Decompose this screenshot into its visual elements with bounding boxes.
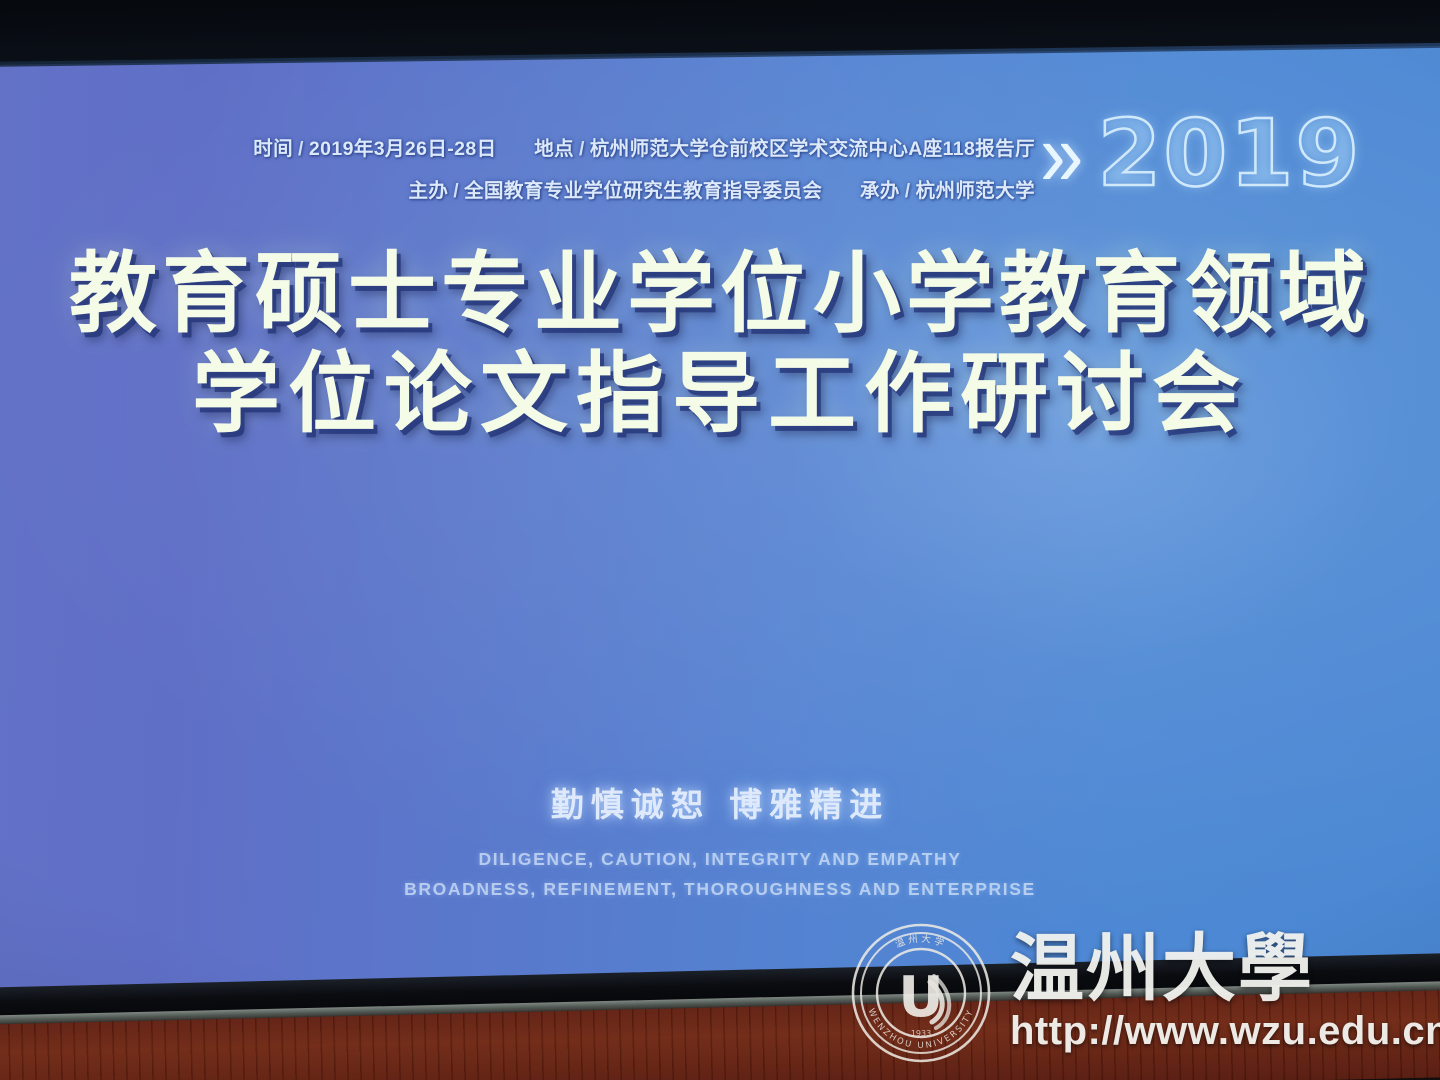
time-value: 2019年3月26日-28日 [309,140,497,160]
double-chevron-icon: » [1040,109,1083,199]
title-line-1: 教育硕士专业学位小学教育领域 [0,244,1440,344]
organizer-value: 杭州师范大学 [916,182,1035,202]
motto-block: 勤慎诚恕 博雅精进 DILIGENCE, CAUTION, INTEGRITY … [0,778,1440,904]
venue-value: 杭州师范大学仓前校区学术交流中心A座118报告厅 [590,140,1035,160]
slide-title: 教育硕士专业学位小学教育领域 学位论文指导工作研讨会 [0,244,1440,445]
motto-english-line-1: DILIGENCE, CAUTION, INTEGRITY AND EMPATH… [0,844,1440,874]
university-seal-icon: 温州大学 WENZHOU UNIVERSITY U 1933 [846,918,996,1068]
time-label: 时间 [253,140,293,160]
meta-separator: / [293,138,309,160]
meta-separator: / [574,138,590,160]
venue-label: 地点 [534,140,574,160]
svg-text:1933: 1933 [911,1029,931,1038]
university-url: http://www.wzu.edu.cn [1010,1010,1440,1052]
meta-line-host-organizer: 主办/全国教育专业学位研究生教育指导委员会 承办/杭州师范大学 [0,182,1035,202]
projected-slide-photo: 时间/2019年3月26日-28日 地点/杭州师范大学仓前校区学术交流中心A座1… [0,0,1440,1080]
host-label: 主办 [408,182,448,202]
year-outline-text: 2019 [1097,108,1361,200]
meta-line-time-venue: 时间/2019年3月26日-28日 地点/杭州师范大学仓前校区学术交流中心A座1… [0,140,1035,160]
title-line-2: 学位论文指导工作研讨会 [0,344,1440,444]
meta-separator: / [900,180,916,202]
watermark-text: 温州大學 http://www.wzu.edu.cn [1010,934,1440,1052]
slide-meta-block: 时间/2019年3月26日-28日 地点/杭州师范大学仓前校区学术交流中心A座1… [0,140,1035,201]
host-value: 全国教育专业学位研究生教育指导委员会 [464,182,822,202]
watermark: 温州大学 WENZHOU UNIVERSITY U 1933 温州大學 http… [846,918,1440,1068]
organizer-label: 承办 [860,182,900,202]
motto-chinese: 勤慎诚恕 博雅精进 [0,778,1440,826]
meta-separator: / [448,180,464,202]
year-lockup: » 2019 [1040,108,1361,200]
university-name: 温州大學 [1010,934,1440,1004]
motto-english-line-2: BROADNESS, REFINEMENT, THOROUGHNESS AND … [0,874,1440,904]
